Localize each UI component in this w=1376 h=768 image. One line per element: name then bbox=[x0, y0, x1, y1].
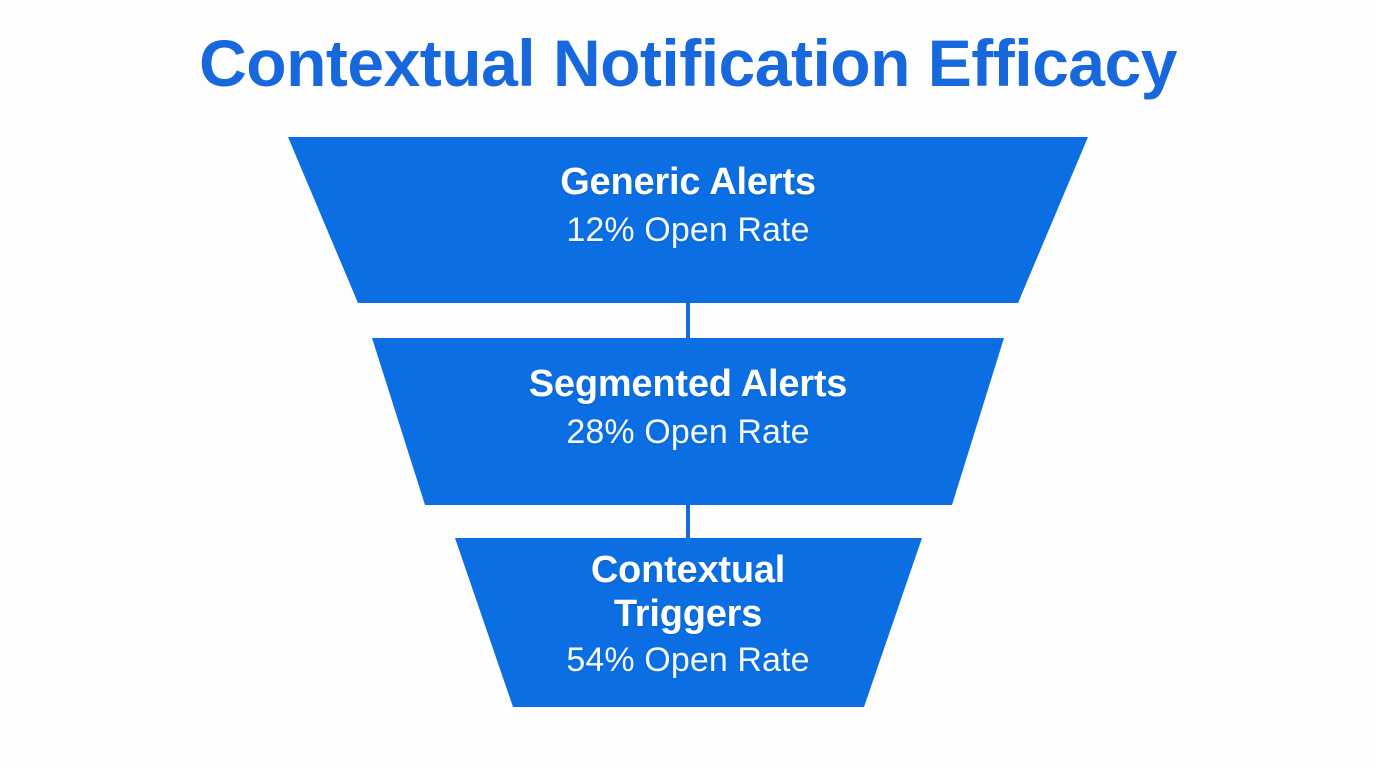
funnel-segment-contextual-triggers[interactable] bbox=[455, 538, 922, 707]
funnel-shapes bbox=[0, 0, 1376, 768]
funnel-chart-canvas: Contextual Notification Efficacy Generic… bbox=[0, 0, 1376, 768]
funnel-segment-generic-alerts[interactable] bbox=[288, 137, 1088, 303]
funnel-segment-segmented-alerts[interactable] bbox=[372, 338, 1004, 505]
connector-line-2-3 bbox=[686, 505, 690, 538]
connector-line-1-2 bbox=[686, 303, 690, 338]
funnel-diagram: Generic Alerts 12% Open Rate Segmented A… bbox=[0, 0, 1376, 768]
